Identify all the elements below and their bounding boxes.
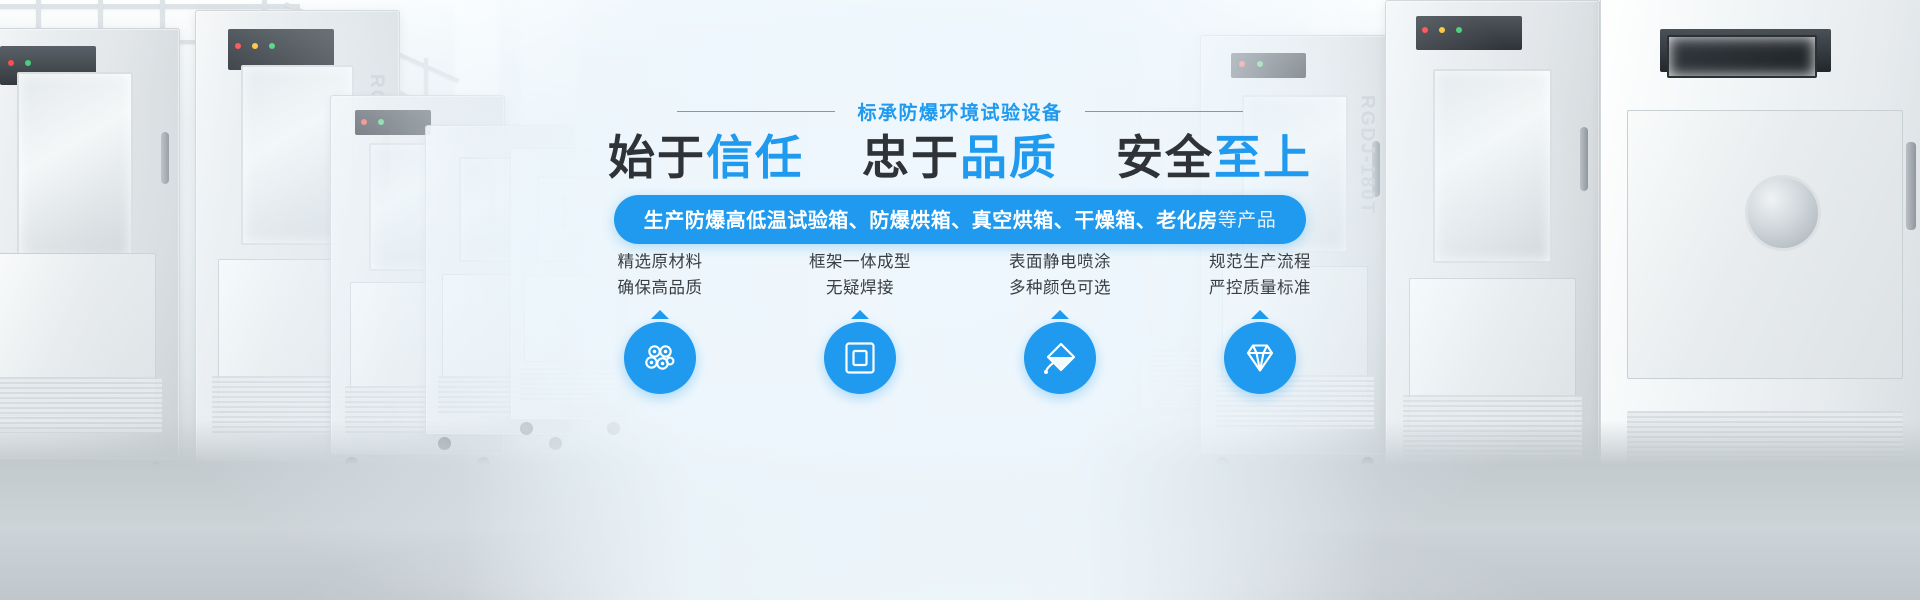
feature-3-line2: 多种颜色可选 <box>1009 276 1111 302</box>
feature-4-line1: 规范生产流程 <box>1209 250 1311 276</box>
eyebrow-text: 标承防爆环境试验设备 <box>857 98 1062 125</box>
feature-4-line2: 严控质量标准 <box>1209 276 1311 302</box>
caret-up-icon <box>851 310 869 319</box>
feature-1-icon-circle[interactable] <box>624 322 696 394</box>
headline-3-dark: 安全 <box>1116 131 1214 184</box>
caret-up-icon <box>651 310 669 319</box>
feature-item-3[interactable]: 表面静电喷涂 多种颜色可选 <box>984 250 1136 394</box>
feature-3-line1: 表面静电喷涂 <box>1009 250 1111 276</box>
headline-segment-3: 安全至上 <box>1116 132 1312 184</box>
subtitle-pill-wrap: 生产防爆高低温试验箱、防爆烘箱、真空烘箱、干燥箱、老化房 等产品 <box>0 195 1920 244</box>
headline-segment-1: 始于信任 <box>608 132 804 184</box>
subtitle-pill: 生产防爆高低温试验箱、防爆烘箱、真空烘箱、干燥箱、老化房 等产品 <box>614 195 1307 244</box>
diamond-icon <box>1240 338 1280 378</box>
frame-box-icon <box>841 339 879 377</box>
headline-segment-2: 忠于品质 <box>862 132 1058 184</box>
feature-1-line1: 精选原材料 <box>618 250 703 276</box>
feature-4-icon-circle[interactable] <box>1224 322 1296 394</box>
feature-1-line2: 确保高品质 <box>618 276 703 302</box>
hero-banner: RGDJ-80T RGD-100 <box>0 0 1920 600</box>
subtitle-light: 等产品 <box>1218 205 1277 232</box>
feature-list: 精选原材料 确保高品质 <box>0 250 1920 394</box>
headline-3-blue: 至上 <box>1214 131 1312 184</box>
banner-content: 标承防爆环境试验设备 始于信任 忠于品质 安全至上 生产防爆高低温试验箱、防爆烘… <box>0 0 1920 600</box>
headline-1-blue: 信任 <box>706 131 804 184</box>
feature-item-1[interactable]: 精选原材料 确保高品质 <box>584 250 736 394</box>
eyebrow-rule-left <box>677 111 835 112</box>
feature-2-line1: 框架一体成型 <box>809 250 911 276</box>
feature-2-icon-circle[interactable] <box>824 322 896 394</box>
headline: 始于信任 忠于品质 安全至上 <box>0 132 1920 184</box>
headline-2-dark: 忠于 <box>862 131 960 184</box>
subtitle-bold: 生产防爆高低温试验箱、防爆烘箱、真空烘箱、干燥箱、老化房 <box>644 204 1218 233</box>
beads-icon <box>640 338 680 378</box>
spray-paint-icon <box>1040 338 1080 378</box>
feature-item-4[interactable]: 规范生产流程 严控质量标准 <box>1184 250 1336 394</box>
feature-2-line2: 无疑焊接 <box>826 276 894 302</box>
feature-3-icon-circle[interactable] <box>1024 322 1096 394</box>
eyebrow-row: 标承防爆环境试验设备 <box>0 98 1920 125</box>
headline-2-blue: 品质 <box>960 131 1058 184</box>
eyebrow-rule-right <box>1085 111 1243 112</box>
caret-up-icon <box>1251 310 1269 319</box>
headline-1-dark: 始于 <box>608 131 706 184</box>
feature-item-2[interactable]: 框架一体成型 无疑焊接 <box>784 250 936 394</box>
caret-up-icon <box>1051 310 1069 319</box>
